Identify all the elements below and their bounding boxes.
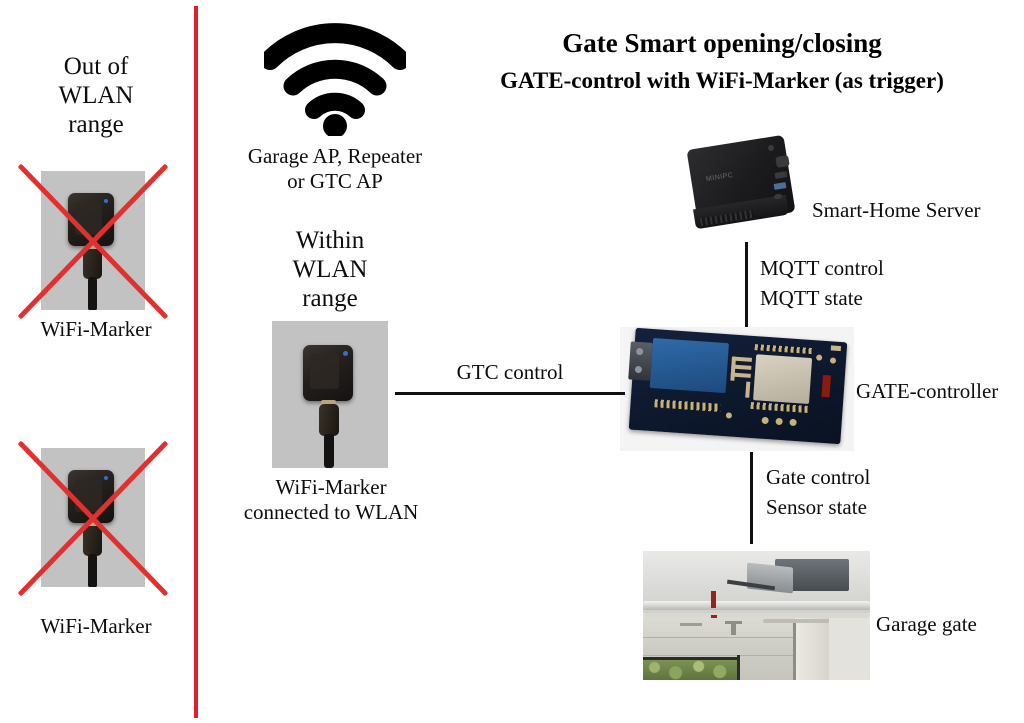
page-subtitle: GATE-control with WiFi-Marker (as trigge… [430, 68, 1014, 94]
gate-controller-label: GATE-controller [856, 379, 1024, 404]
connector-server-to-controller [745, 242, 748, 334]
connector-label-mqtt-control: MQTT control [760, 256, 960, 281]
connector-label-sensor-state: Sensor state [766, 495, 966, 520]
connector-label-mqtt-state: MQTT state [760, 286, 960, 311]
wifi-signal-icon [264, 18, 406, 136]
wifi-marker-photo-connected [272, 321, 388, 468]
connector-label-gate-control: Gate control [766, 465, 966, 490]
access-point-caption: Garage AP, Repeater or GTC AP [228, 144, 442, 194]
vertical-red-divider [194, 6, 198, 718]
gate-controller-photo [620, 327, 854, 451]
wifi-marker-caption-bottom: WiFi-Marker [10, 614, 182, 639]
connector-label-gtc-control: GTC control [400, 360, 620, 385]
connector-controller-to-gate [750, 452, 753, 544]
diagram-canvas: Out of WLAN range WiFi-Marker WiFi-Marke… [0, 0, 1024, 723]
connected-marker-caption: WiFi-Marker connected to WLAN [240, 475, 422, 525]
garage-gate-label: Garage gate [876, 612, 1024, 637]
red-cross-icon-bottom [20, 440, 166, 595]
page-title: Gate Smart opening/closing [430, 28, 1014, 59]
garage-gate-photo [643, 551, 870, 680]
out-of-wlan-range-heading: Out of WLAN range [10, 52, 182, 139]
red-cross-icon-top [20, 163, 166, 318]
smart-home-server-label: Smart-Home Server [812, 198, 1024, 223]
connector-marker-to-controller [395, 392, 625, 395]
smart-home-server-photo: MINIPC [686, 138, 804, 244]
wifi-marker-caption-top: WiFi-Marker [10, 317, 182, 342]
within-wlan-range-heading: Within WLAN range [244, 226, 416, 313]
